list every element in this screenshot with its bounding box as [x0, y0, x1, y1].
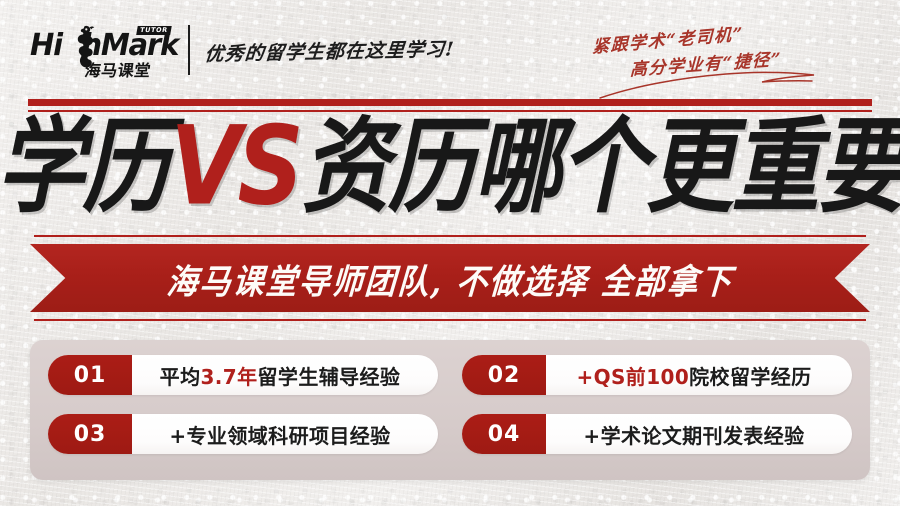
poster-header: HighMark TUTOR 海马课堂 优秀的留学生都在这里学习! 紧跟学术“老… [0, 0, 900, 98]
feature-text: +专业领域科研项目经验 [132, 414, 438, 454]
main-headline: 学历VS资历哪个更重要 [0, 113, 900, 221]
feature-item-01[interactable]: 01 平均3.7年留学生辅导经验 [48, 355, 438, 395]
feature-number: 02 [488, 363, 521, 388]
ribbon-text: 海马课堂导师团队, 不做选择 全部拿下 [165, 253, 735, 303]
poster-canvas: HighMark TUTOR 海马课堂 优秀的留学生都在这里学习! 紧跟学术“老… [0, 0, 900, 506]
feature-number-badge: 03 [48, 414, 132, 454]
feature-number: 03 [74, 422, 107, 447]
feature-text: +QS前100院校留学经历 [546, 355, 852, 395]
logo-word-pre: Hi [30, 28, 62, 63]
feature-number-badge: 01 [48, 355, 132, 395]
headline-vs: VS [168, 113, 301, 222]
feature-text-post: 留学生辅导经验 [258, 361, 401, 390]
features-grid: 01 平均3.7年留学生辅导经验 02 +QS前100院校留学经历 03 +专业… [30, 340, 870, 480]
feature-text-pre: +专业领域科研项目经验 [169, 420, 390, 449]
ribbon-rule-top [34, 235, 866, 237]
headline-part-1: 学历 [0, 115, 168, 219]
feature-text-pre: +学术论文期刊发表经验 [583, 420, 804, 449]
feature-text-pre: 平均 [160, 361, 201, 390]
feature-number: 04 [488, 422, 521, 447]
ribbon-shape: 海马课堂导师团队, 不做选择 全部拿下 [30, 244, 870, 312]
headline-part-2: 资历哪个更重要 [302, 115, 900, 219]
feature-number-badge: 02 [462, 355, 546, 395]
header-tagline: 优秀的留学生都在这里学习! [204, 34, 456, 66]
tutor-badge: TUTOR [136, 26, 171, 35]
ribbon-rule-bottom [34, 319, 866, 321]
feature-item-04[interactable]: 04 +学术论文期刊发表经验 [462, 414, 852, 454]
feature-text-highlight: +QS前100 [576, 361, 689, 390]
handwritten-note: 紧跟学术“老司机” 高分学业有“捷径” [578, 26, 878, 88]
header-divider [188, 25, 190, 75]
logo-chinese-name: 海马课堂 [83, 57, 152, 81]
swoosh-flourish-icon [598, 66, 868, 100]
feature-item-02[interactable]: 02 +QS前100院校留学经历 [462, 355, 852, 395]
features-panel: 01 平均3.7年留学生辅导经验 02 +QS前100院校留学经历 03 +专业… [30, 340, 870, 480]
feature-text: 平均3.7年留学生辅导经验 [132, 355, 438, 395]
feature-number-badge: 04 [462, 414, 546, 454]
feature-number: 01 [74, 363, 107, 388]
feature-item-03[interactable]: 03 +专业领域科研项目经验 [48, 414, 438, 454]
ribbon-banner: 海马课堂导师团队, 不做选择 全部拿下 [0, 235, 900, 321]
feature-text-post: 院校留学经历 [689, 361, 811, 390]
feature-text: +学术论文期刊发表经验 [546, 414, 852, 454]
brand-logo: HighMark TUTOR 海马课堂 [30, 26, 180, 78]
feature-text-highlight: 3.7年 [200, 361, 257, 390]
